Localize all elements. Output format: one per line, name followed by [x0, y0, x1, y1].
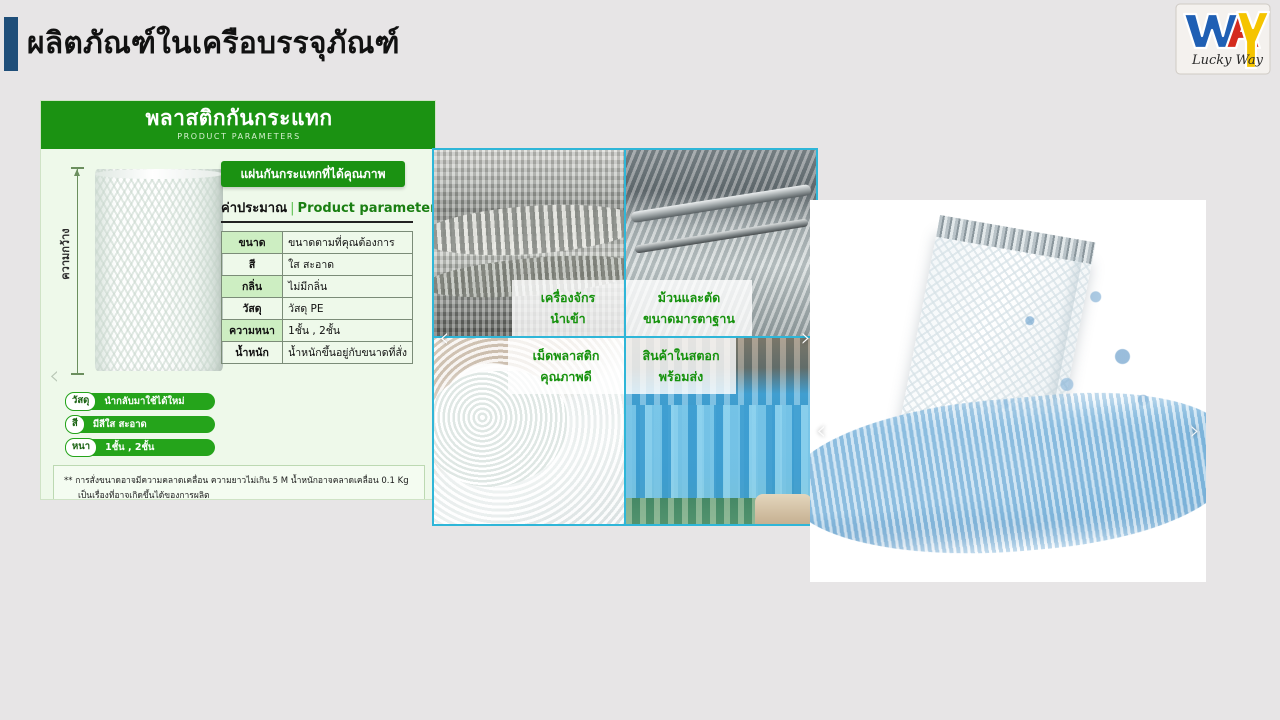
collage-caption-line-1: เครื่องจักร — [518, 287, 618, 308]
collage-caption: เม็ดพลาสติก คุณภาพดี — [508, 338, 624, 394]
heading-divider — [221, 221, 413, 223]
table-cell-key: วัสดุ — [222, 298, 283, 320]
chevron-left-icon[interactable]: ‹ — [439, 325, 449, 351]
feature-pill-key: วัสดุ — [65, 392, 96, 411]
collage-cell-stock-warehouse[interactable]: สินค้าในสตอก พร้อมส่ง — [625, 337, 817, 525]
chevron-right-icon[interactable]: › — [1190, 418, 1200, 444]
table-cell-value: ขนาดตามที่คุณต้องการ — [283, 232, 413, 254]
feature-pill-key: หนา — [65, 438, 97, 457]
table-cell-value: ใส สะอาด — [283, 254, 413, 276]
parameters-heading-th: ค่าประมาณ — [221, 201, 287, 216]
parameters-heading-en: Product parameters — [298, 201, 436, 216]
quality-badge-button[interactable]: แผ่นกันกระแทกที่ได้คุณภาพ — [221, 161, 405, 187]
bubble-wrap-roll-figure: ความกว้าง — [53, 157, 233, 387]
table-row: ความหนา 1ชั้น , 2ชั้น — [222, 320, 413, 342]
title-accent-bar — [4, 17, 18, 71]
collage-cell-machinery[interactable]: เครื่องจักร นำเข้า — [433, 149, 625, 337]
disclaimer-note: ** การสั่งขนาดอาจมีความคลาดเคลื่อน ความย… — [53, 465, 425, 500]
table-cell-key: กลิ่น — [222, 276, 283, 298]
factory-collage: เครื่องจักร นำเข้า ม้วนและตัด ขนาดมารตาฐ… — [432, 148, 818, 526]
table-cell-value: 1ชั้น , 2ชั้น — [283, 320, 413, 342]
dimension-label: ความกว้าง — [56, 219, 74, 289]
chevron-left-icon[interactable]: ‹ — [816, 418, 826, 444]
table-cell-key: ความหนา — [222, 320, 283, 342]
parameters-heading-separator: | — [287, 201, 297, 216]
table-cell-value: ไม่มีกลิ่น — [283, 276, 413, 298]
table-row: น้ำหนัก น้ำหนักขึ้นอยู่กับขนาดที่สั่ง — [222, 342, 413, 364]
feature-pill-material: วัสดุ นำกลับมาใช้ได้ใหม่ — [65, 393, 215, 410]
table-row: สี ใส สะอาด — [222, 254, 413, 276]
table-row: วัสดุ วัสดุ PE — [222, 298, 413, 320]
dimension-cap-bottom — [71, 373, 84, 375]
collage-caption-line-2: คุณภาพดี — [514, 366, 618, 387]
collage-caption-line-2: พร้อมส่ง — [632, 366, 730, 387]
feature-pill-thickness: หนา 1ชั้น , 2ชั้น — [65, 439, 215, 456]
collage-caption: ม้วนและตัด ขนาดมารตาฐาน — [626, 280, 752, 336]
collage-caption-line-1: เม็ดพลาสติก — [514, 345, 618, 366]
collage-cell-plastic-pellets[interactable]: เม็ดพลาสติก คุณภาพดี — [433, 337, 625, 525]
card-header: พลาสติกกันกระแทก PRODUCT PARAMETERS — [41, 101, 436, 149]
table-cell-key: สี — [222, 254, 283, 276]
table-row: กลิ่น ไม่มีกลิ่น — [222, 276, 413, 298]
card-header-subtitle-en: PRODUCT PARAMETERS — [41, 131, 436, 142]
collage-cell-rolling-cutting[interactable]: ม้วนและตัด ขนาดมารตาฐาน — [625, 149, 817, 337]
table-row: ขนาด ขนาดตามที่คุณต้องการ — [222, 232, 413, 254]
disclaimer-line-1: ** การสั่งขนาดอาจมีความคลาดเคลื่อน ความย… — [64, 474, 414, 489]
table-cell-key: ขนาด — [222, 232, 283, 254]
feature-pill-value: 1ชั้น , 2ชั้น — [97, 440, 162, 455]
svg-text:Lucky Way: Lucky Way — [1191, 53, 1264, 68]
dimension-arrow-icon — [74, 169, 80, 176]
table-cell-value: น้ำหนักขึ้นอยู่กับขนาดที่สั่ง — [283, 342, 413, 364]
page-header: ผลิตภัณฑ์ในเครือบรรจุภัณฑ์ Lucky Way — [0, 0, 1280, 92]
page-title: ผลิตภัณฑ์ในเครือบรรจุภัณฑ์ — [27, 23, 400, 65]
chevron-left-icon[interactable]: ‹ — [49, 363, 59, 389]
parameters-heading: ค่าประมาณ|Product parameters — [221, 197, 413, 218]
collage-caption-line-1: สินค้าในสตอก — [632, 345, 730, 366]
collage-caption: เครื่องจักร นำเข้า — [512, 280, 624, 336]
collage-caption-line-1: ม้วนและตัด — [632, 287, 746, 308]
dimension-axis-line — [77, 167, 78, 375]
water-splash — [810, 380, 1206, 571]
lucky-way-logo: Lucky Way — [1174, 2, 1272, 78]
bubble-mailer-hero-image: ‹ › — [810, 200, 1206, 582]
collage-caption-line-2: ขนาดมารตาฐาน — [632, 308, 746, 329]
card-header-title-th: พลาสติกกันกระแทก — [41, 105, 436, 131]
table-cell-value: วัสดุ PE — [283, 298, 413, 320]
collage-caption-line-2: นำเข้า — [518, 308, 618, 329]
feature-pill-color: สี มีสีใส สะอาด — [65, 416, 215, 433]
feature-pill-key: สี — [65, 415, 85, 434]
product-parameters-card: พลาสติกกันกระแทก PRODUCT PARAMETERS ความ… — [40, 100, 436, 500]
feature-pill-value: มีสีใส สะอาด — [85, 417, 155, 432]
disclaimer-line-2: เป็นเรื่องที่อาจเกิดขึ้นได้ของการผลิต — [64, 489, 414, 500]
card-body: ความกว้าง วัสดุ นำกลับมาใช้ได้ใหม่ สี มี… — [41, 149, 436, 500]
product-parameters-table: ขนาด ขนาดตามที่คุณต้องการ สี ใส สะอาด กล… — [221, 231, 413, 364]
bubble-wrap-roll-image — [95, 169, 223, 371]
table-cell-key: น้ำหนัก — [222, 342, 283, 364]
collage-caption: สินค้าในสตอก พร้อมส่ง — [626, 338, 736, 394]
feature-pill-value: นำกลับมาใช้ได้ใหม่ — [96, 394, 192, 409]
